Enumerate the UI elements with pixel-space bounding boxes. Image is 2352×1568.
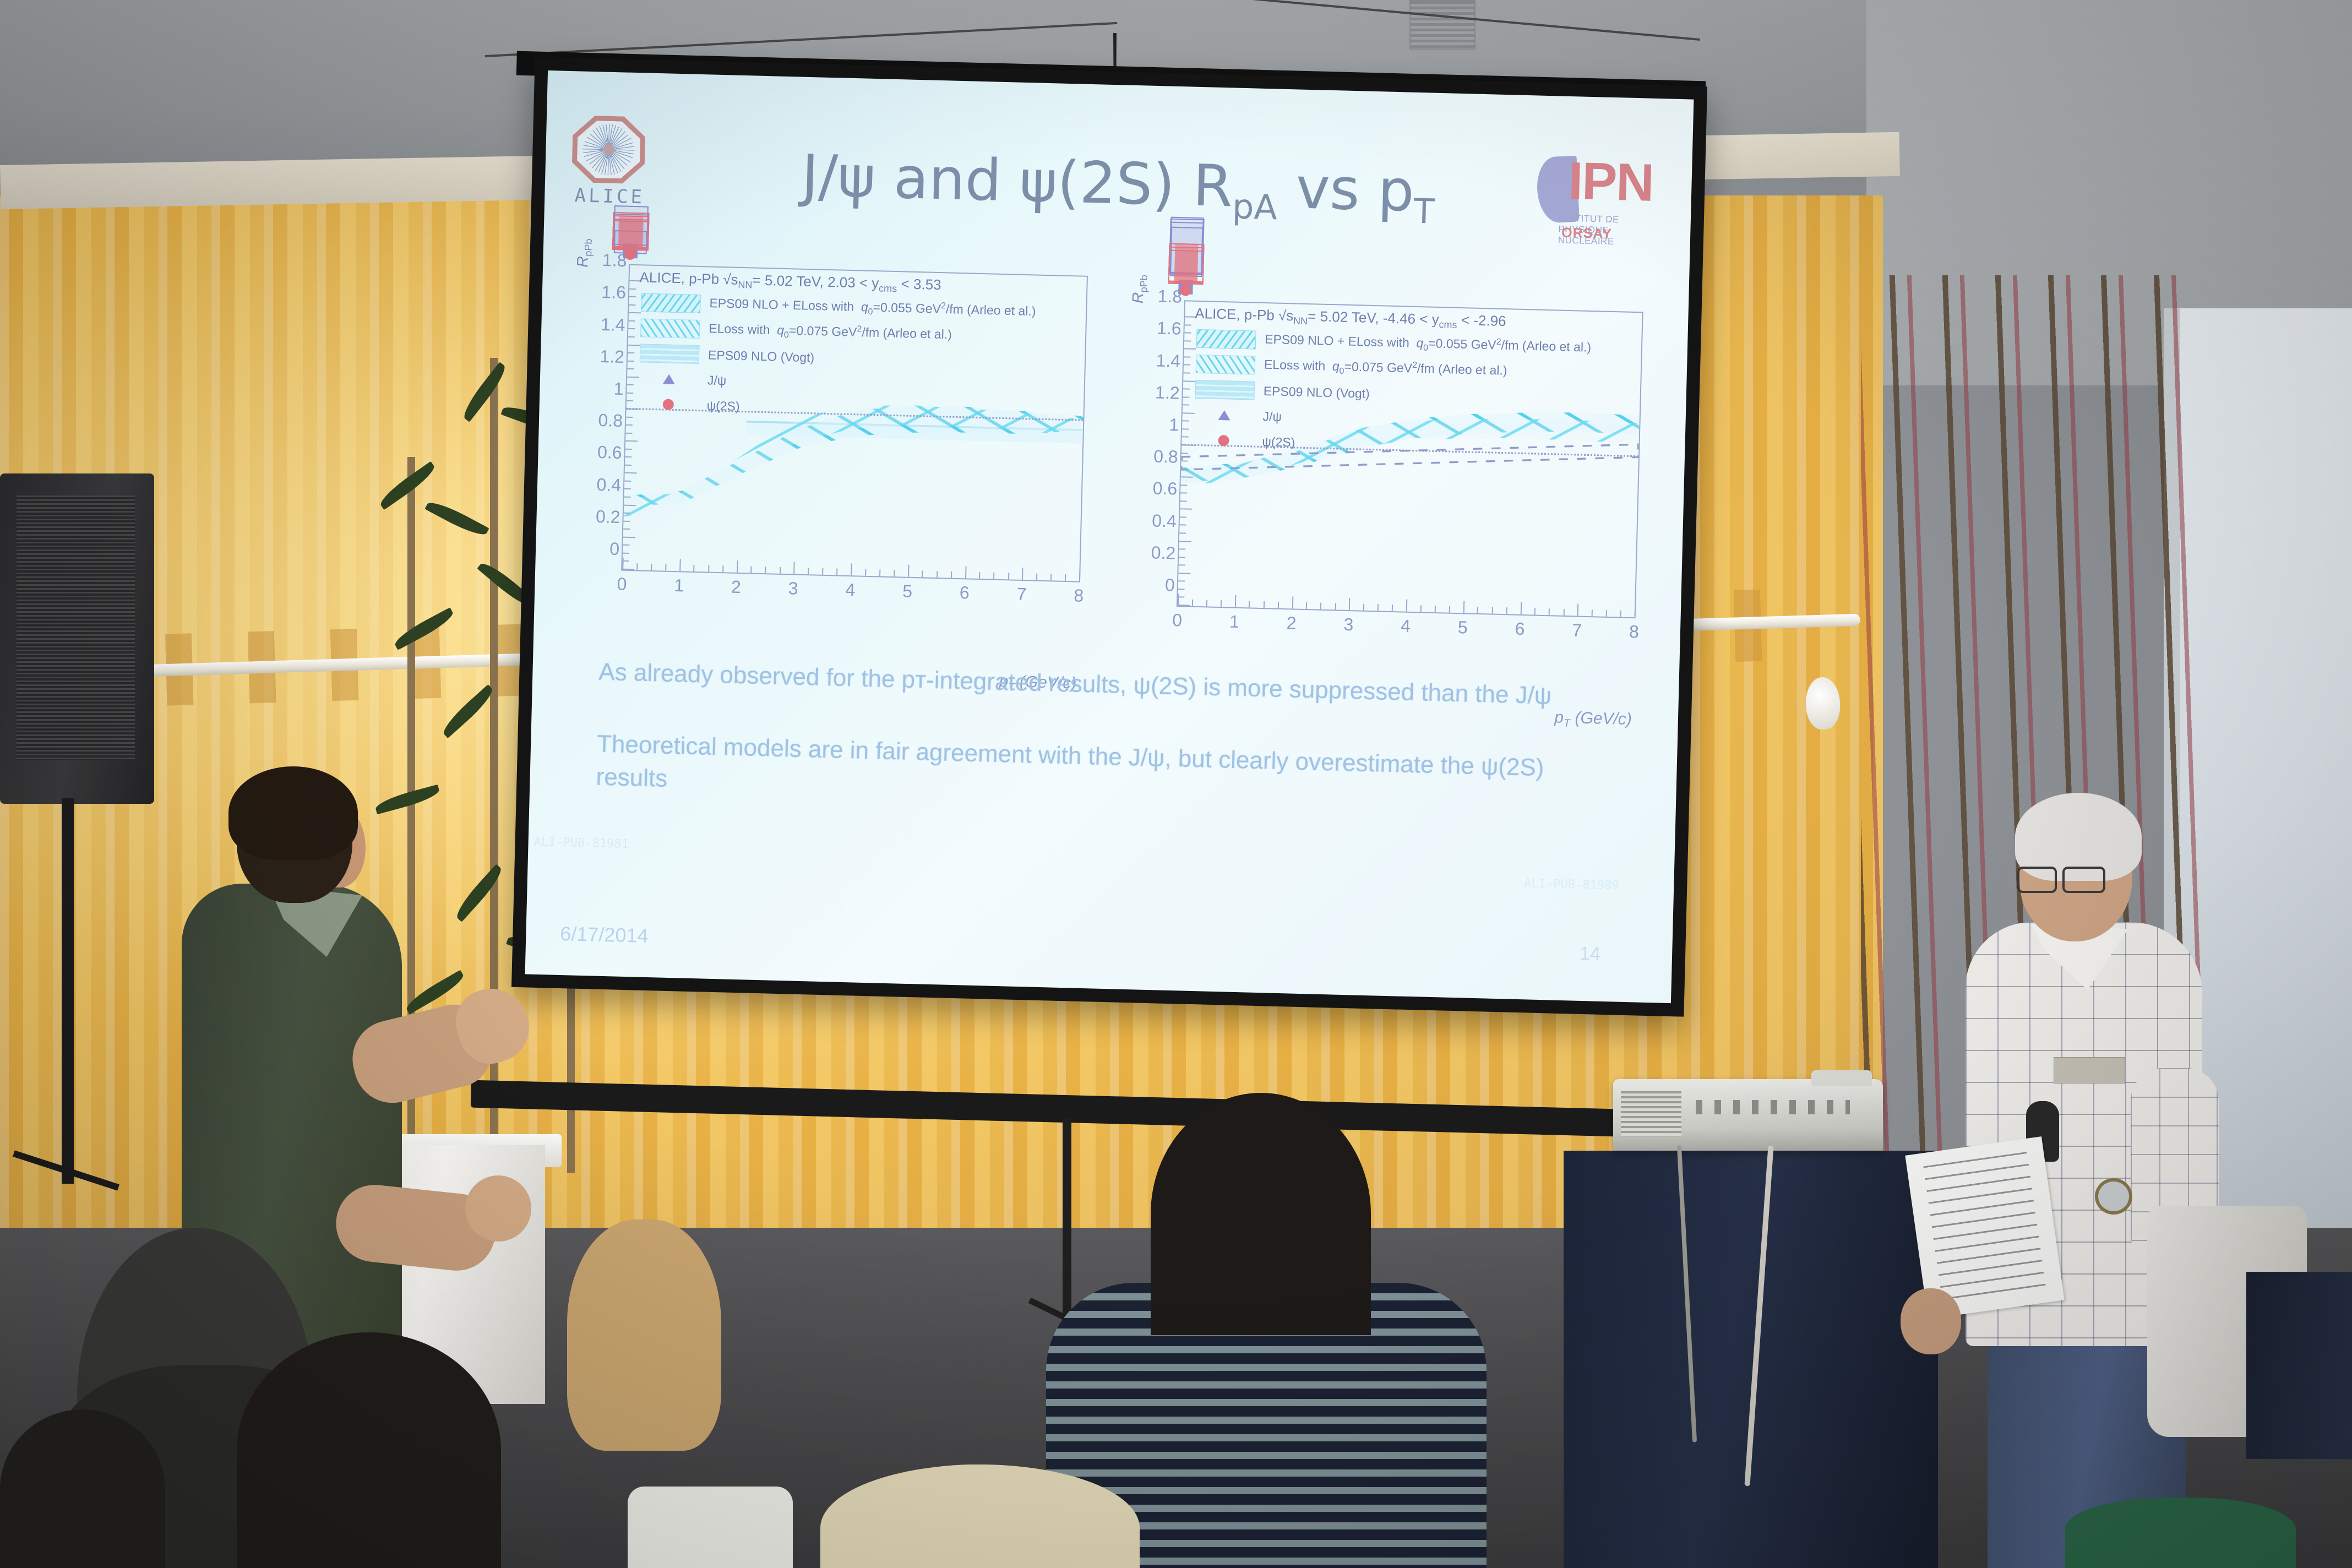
chart-right-ytick-04: 0.4: [1152, 510, 1177, 531]
chart-right-axes: 0 0.2 0.4 0.6 0.8 1 1.2 1.4 1.6 1.8: [1177, 300, 1643, 618]
chart-left-ytick-08: 0.8: [598, 410, 623, 431]
chart-left-ytick-0: 0: [609, 539, 620, 559]
glasses-left-lens-icon: [2017, 867, 2057, 893]
hatch-back-swatch-icon: [1196, 329, 1256, 350]
solid-band-swatch-icon: [640, 344, 700, 364]
chart-right-ytick-02: 0.2: [1151, 542, 1175, 563]
presenter-right: [1949, 793, 2290, 1568]
chart-left-ytick-06: 0.6: [597, 442, 622, 463]
presenter-right-hand: [1901, 1288, 1961, 1354]
triangle-marker-icon: [639, 373, 699, 385]
audience-member-blonde: [567, 1219, 721, 1451]
chart-left-xtick-8: 8: [1074, 585, 1084, 606]
side-table: [2246, 1272, 2352, 1459]
chart-right-xtick-3: 3: [1343, 614, 1354, 635]
slide-date: 6/17/2014: [560, 922, 649, 948]
slide-bullet-2: Theoretical models are in fair agreement…: [596, 727, 1615, 820]
chart-left-legend: EPS09 NLO + ELoss with q0=0.055 GeV2/fm …: [638, 290, 1036, 426]
chart-right-ytick-16: 1.6: [1157, 318, 1182, 339]
name-badge: [2054, 1057, 2125, 1084]
projector-vent: [1621, 1091, 1681, 1136]
chart-left-xtick-0: 0: [617, 574, 627, 594]
projector-ports: [1696, 1100, 1850, 1114]
chart-right-xtick-5: 5: [1457, 617, 1468, 638]
slide-page-number: 14: [1580, 943, 1601, 965]
glasses-right-lens-icon: [2062, 867, 2105, 893]
audience-member-4-head: [1151, 1093, 1371, 1335]
chart-right-xtick-6: 6: [1515, 619, 1525, 639]
chart-right-ytick-1: 1: [1169, 415, 1179, 435]
chart-right: RpPb: [1125, 289, 1647, 676]
speaker-stand: [62, 798, 74, 1184]
chart-left: RpPb: [570, 253, 1092, 640]
paper-text-lines: [1923, 1152, 2046, 1304]
chart-right-ytick-0: 0: [1165, 575, 1175, 595]
triangle-marker-icon: [1194, 410, 1254, 421]
chart-right-ytick-14: 1.4: [1156, 350, 1180, 371]
slide-title-mid: vs p: [1277, 154, 1415, 225]
plots-container: RpPb: [564, 253, 1669, 666]
audience-member-5: [2065, 1498, 2296, 1568]
pa-speaker: [0, 473, 154, 804]
chart-right-xtick-0: 0: [1172, 610, 1183, 630]
chart-left-xtick-3: 3: [788, 578, 798, 598]
chart-right-xtick-7: 7: [1572, 620, 1582, 640]
chart-right-ylabel: RpPb: [1129, 275, 1150, 304]
projector-table: [1564, 1151, 1938, 1568]
projector-lens-housing: [1811, 1070, 1872, 1086]
circle-marker-icon: [1194, 434, 1253, 447]
projection-screen[interactable]: ALICE IPN INSTITUT DE PHYSIQUE NUCLÉAIRE…: [511, 57, 1707, 1016]
wristwatch: [2095, 1178, 2132, 1215]
presenter-left-hand-lower: [465, 1175, 531, 1242]
slide-title-main: J/ψ and ψ(2S) R: [801, 142, 1233, 220]
chart-right-xtick-1: 1: [1229, 612, 1240, 632]
chart-right-xtick-2: 2: [1286, 613, 1297, 633]
slide-title-sub-pa: pA: [1232, 186, 1278, 227]
watermark-right: ALI-PUB-81989: [1524, 876, 1619, 892]
chart-left-ytick-16: 1.6: [601, 282, 626, 303]
speaker-grill: [17, 496, 135, 760]
chart-right-ytick-08: 0.8: [1153, 447, 1178, 467]
chart-left-xtick-2: 2: [731, 577, 742, 597]
chart-left-ytick-02: 0.2: [596, 507, 620, 527]
conference-room-scene: ALICE IPN INSTITUT DE PHYSIQUE NUCLÉAIRE…: [0, 0, 2352, 1568]
solid-band-swatch-icon: [1195, 380, 1255, 400]
presenter-left-hair: [228, 766, 358, 860]
chart-left-xtick-6: 6: [959, 582, 970, 603]
chart-left-xtick-7: 7: [1016, 584, 1027, 605]
audience-chair-back: [628, 1487, 793, 1568]
chart-right-ytick-06: 0.6: [1152, 478, 1177, 499]
chart-right-ytick-12: 1.2: [1155, 382, 1180, 403]
chart-right-legend: EPS09 NLO + ELoss with q0=0.055 GeV2/fm …: [1194, 326, 1592, 462]
slide-title-sub-t: T: [1413, 191, 1435, 232]
slide-title: J/ψ and ψ(2S) RpA vs pT: [545, 135, 1692, 238]
ceiling-vent: [1409, 0, 1476, 50]
watermark-left: ALI-PUB-81981: [533, 835, 629, 851]
audience-member-6: [0, 1409, 165, 1568]
hatch-back-swatch-icon: [641, 293, 701, 313]
circle-marker-icon: [639, 398, 698, 411]
chart-left-ytick-04: 0.4: [596, 475, 621, 496]
chart-left-ytick-12: 1.2: [600, 346, 624, 367]
chart-left-xtick-1: 1: [674, 575, 684, 596]
chart-right-xtick-8: 8: [1629, 622, 1640, 642]
projector[interactable]: [1613, 1079, 1883, 1151]
chart-left-axes: 0 0.2 0.4 0.6 0.8 1 1.2 1.4 1.6 1.8: [621, 264, 1088, 582]
chart-left-ytick-1: 1: [613, 379, 624, 399]
slide-bullets: As already observed for the pᴛ-integrate…: [595, 656, 1618, 859]
chart-right-xtick-4: 4: [1401, 616, 1411, 636]
chart-left-ytick-14: 1.4: [601, 314, 625, 335]
audience-member-2: [237, 1332, 501, 1568]
chart-left-ylabel: RpPb: [574, 238, 595, 268]
hatch-forward-swatch-icon: [640, 318, 700, 339]
chart-left-xtick-4: 4: [845, 580, 856, 600]
hatch-forward-swatch-icon: [1196, 355, 1256, 375]
slide-surface: ALICE IPN INSTITUT DE PHYSIQUE NUCLÉAIRE…: [525, 70, 1694, 1003]
chart-left-xtick-5: 5: [902, 581, 913, 602]
